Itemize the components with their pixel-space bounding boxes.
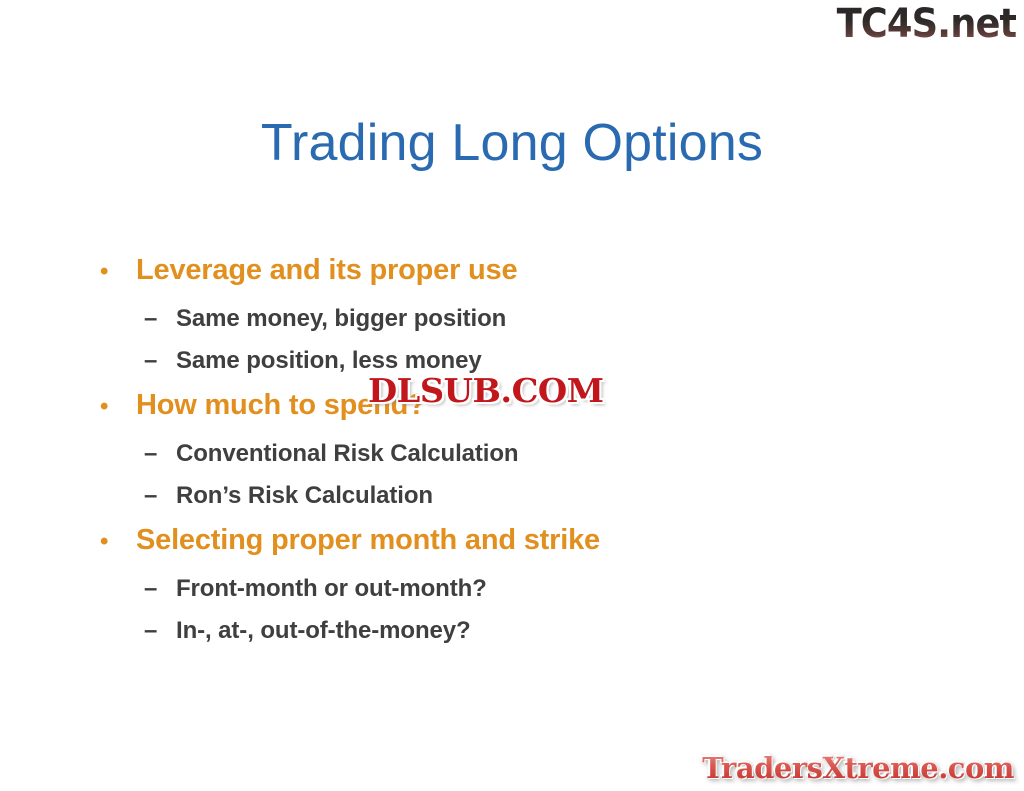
bullet-dash-icon: – bbox=[96, 475, 146, 516]
bullet-level2: – Conventional Risk Calculation bbox=[96, 433, 816, 474]
bullet-level1: • Leverage and its proper use bbox=[96, 248, 816, 294]
bullet-level2-label: Front-month or out-month? bbox=[146, 568, 816, 609]
presentation-slide: TC4S.net Trading Long Options • Leverage… bbox=[0, 0, 1024, 791]
bullet-dash-icon: – bbox=[96, 433, 146, 474]
bullet-dash-icon: – bbox=[96, 610, 146, 651]
bullet-dot-icon: • bbox=[96, 385, 136, 429]
bullet-dash-icon: – bbox=[96, 568, 146, 609]
bullet-level1-label: Leverage and its proper use bbox=[136, 248, 816, 292]
bullet-level2: – Front-month or out-month? bbox=[96, 568, 816, 609]
bullet-level2: – Same money, bigger position bbox=[96, 298, 816, 339]
tradersxtreme-footer-logo: TradersXtreme.com bbox=[702, 751, 1014, 785]
bullet-group: • Leverage and its proper use – Same mon… bbox=[96, 248, 816, 381]
bullet-dot-icon: • bbox=[96, 250, 136, 294]
bullet-level2-label: In-, at-, out-of-the-money? bbox=[146, 610, 816, 651]
bullet-group: • Selecting proper month and strike – Fr… bbox=[96, 518, 816, 651]
bullet-list: • Leverage and its proper use – Same mon… bbox=[96, 248, 816, 653]
bullet-level2: – In-, at-, out-of-the-money? bbox=[96, 610, 816, 651]
bullet-level2-label: Same money, bigger position bbox=[146, 298, 816, 339]
bullet-level2-label: Conventional Risk Calculation bbox=[146, 433, 816, 474]
bullet-level2-label: Ron’s Risk Calculation bbox=[146, 475, 816, 516]
bullet-level1-label: Selecting proper month and strike bbox=[136, 518, 816, 562]
bullet-dash-icon: – bbox=[96, 298, 146, 339]
page-title: Trading Long Options bbox=[0, 112, 1024, 174]
tc4s-brand-logo: TC4S.net bbox=[836, 2, 1016, 46]
dlsub-watermark: DLSUB.COM bbox=[368, 371, 603, 411]
bullet-dot-icon: • bbox=[96, 520, 136, 564]
bullet-level1: • Selecting proper month and strike bbox=[96, 518, 816, 564]
bullet-dash-icon: – bbox=[96, 340, 146, 381]
bullet-level2: – Ron’s Risk Calculation bbox=[96, 475, 816, 516]
